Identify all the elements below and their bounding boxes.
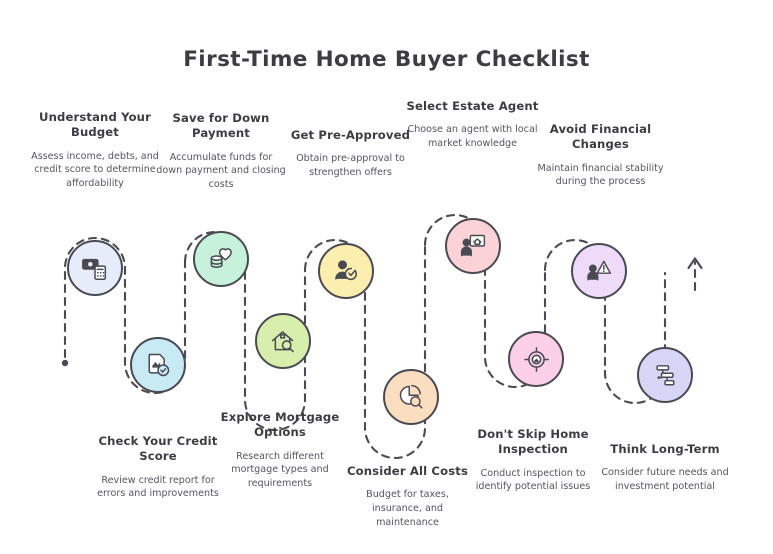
inspection-target-icon [522,345,551,374]
step-heading-10: Think Long-Term [600,442,730,457]
step-icon-circle-9[interactable] [571,243,627,299]
step-icon-circle-7[interactable] [445,218,501,274]
step-heading-7: Select Estate Agent [405,99,540,114]
person-check-icon [332,257,360,285]
step-desc-3: Accumulate funds for down payment and cl… [156,151,286,192]
step-desc-9: Maintain financial stability during the … [533,162,668,189]
agent-presenting-house-icon [459,232,487,260]
financial-warning-icon [585,257,613,285]
long-term-plan-icon [651,361,679,389]
step-text-2: Check Your Credit Score Review credit re… [88,434,228,501]
step-heading-3: Save for Down Payment [156,111,286,142]
savings-heart-icon [207,245,235,273]
step-text-9: Avoid Financial Changes Maintain financi… [533,122,668,189]
step-icon-circle-8[interactable] [508,331,564,387]
step-icon-circle-1[interactable] [67,240,123,296]
step-desc-2: Review credit report for errors and impr… [88,474,228,501]
step-icon-circle-2[interactable] [130,337,186,393]
step-text-5: Get Pre-Approved Obtain pre-approval to … [288,128,413,180]
step-text-4: Explore Mortgage Options Research differ… [215,410,345,490]
step-icon-circle-10[interactable] [637,347,693,403]
step-text-8: Don't Skip Home Inspection Conduct inspe… [468,427,598,494]
step-desc-8: Conduct inspection to identify potential… [468,467,598,494]
step-heading-6: Consider All Costs [345,464,470,479]
step-icon-circle-4[interactable] [255,313,311,369]
house-search-icon [269,327,298,356]
step-text-10: Think Long-Term Consider future needs an… [600,442,730,494]
step-heading-2: Check Your Credit Score [88,434,228,465]
step-heading-4: Explore Mortgage Options [215,410,345,441]
step-icon-circle-6[interactable] [383,369,439,425]
step-desc-10: Consider future needs and investment pot… [600,466,730,493]
step-icon-circle-3[interactable] [193,231,249,287]
step-text-3: Save for Down Payment Accumulate funds f… [156,111,286,191]
step-desc-4: Research different mortgage types and re… [215,450,345,491]
step-desc-5: Obtain pre-approval to strengthen offers [288,152,413,179]
step-text-6: Consider All Costs Budget for taxes, ins… [345,464,470,529]
step-desc-1: Assess income, debts, and credit score t… [25,150,165,191]
step-heading-9: Avoid Financial Changes [533,122,668,153]
infographic-canvas: First-Time Home Buyer Checklist [0,0,773,554]
step-heading-8: Don't Skip Home Inspection [468,427,598,458]
step-heading-1: Understand Your Budget [25,110,165,141]
money-calculator-icon [80,253,110,283]
step-icon-circle-5[interactable] [318,243,374,299]
step-text-1: Understand Your Budget Assess income, de… [25,110,165,190]
pie-chart-search-icon [397,383,425,411]
step-heading-5: Get Pre-Approved [288,128,413,143]
credit-report-check-icon [144,351,172,379]
step-desc-7: Choose an agent with local market knowle… [405,123,540,150]
step-desc-6: Budget for taxes, insurance, and mainten… [345,488,470,529]
step-text-7: Select Estate Agent Choose an agent with… [405,99,540,151]
